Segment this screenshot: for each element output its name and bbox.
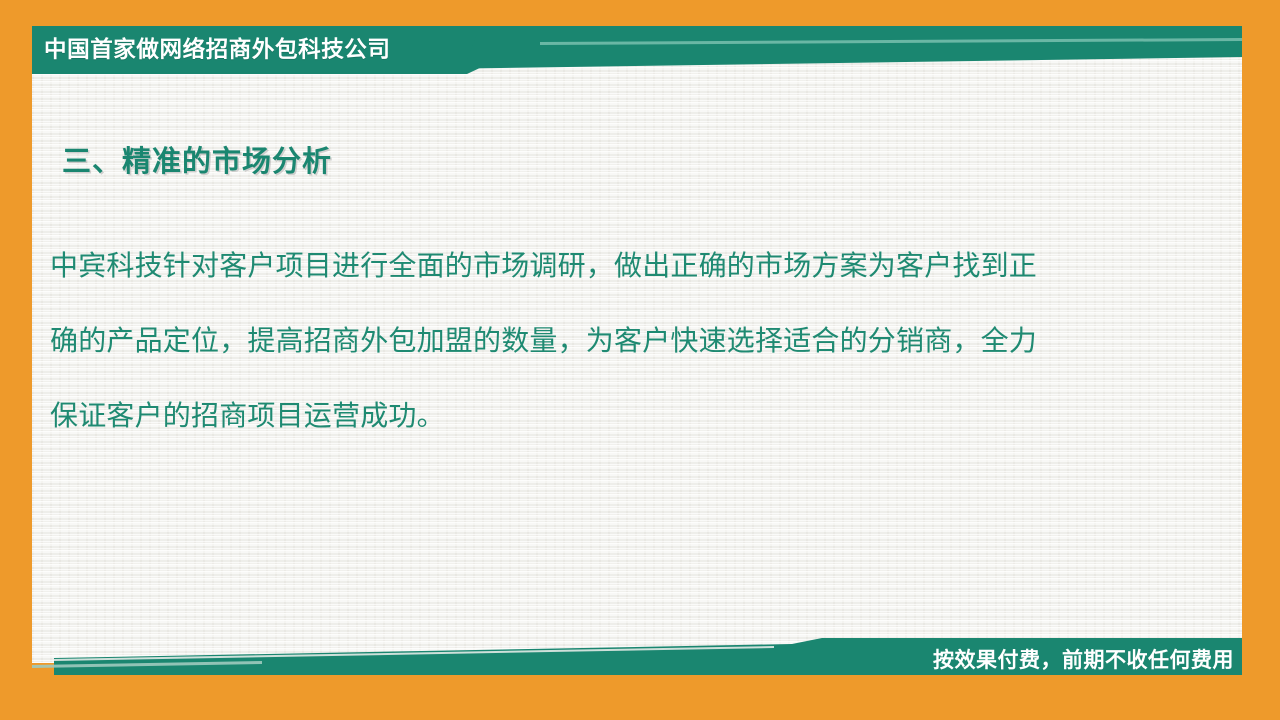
page-title: 三、精准的市场分析	[62, 138, 332, 180]
paragraph-line-text: 确的产品定位，提高招商外包加盟的数量，为客户快速选择适合的分销商，全力	[50, 303, 1037, 378]
paragraph-line: 确的产品定位，提高招商外包加盟的数量，为客户快速选择适合的分销商，全力	[50, 303, 1185, 378]
header-title: 中国首家做网络招商外包科技公司	[44, 33, 391, 67]
paragraph-line: 保证客户的招商项目运营成功。	[50, 378, 1185, 453]
slide-canvas: 中国首家做网络招商外包科技公司 三、精准的市场分析 中宾科技针对客户项目进行全面…	[0, 0, 1280, 720]
footer-tagline: 按效果付费，前期不收任何费用	[933, 645, 1234, 675]
paragraph-line-text: 保证客户的招商项目运营成功。	[50, 399, 445, 432]
paragraph-line-text: 中宾科技针对客户项目进行全面的市场调研，做出正确的市场方案为客户找到正	[50, 228, 1037, 303]
paragraph-line: 中宾科技针对客户项目进行全面的市场调研，做出正确的市场方案为客户找到正	[50, 228, 1185, 303]
footer-thin-bar	[54, 646, 792, 675]
body-paragraph: 中宾科技针对客户项目进行全面的市场调研，做出正确的市场方案为客户找到正 确的产品…	[50, 228, 1185, 453]
